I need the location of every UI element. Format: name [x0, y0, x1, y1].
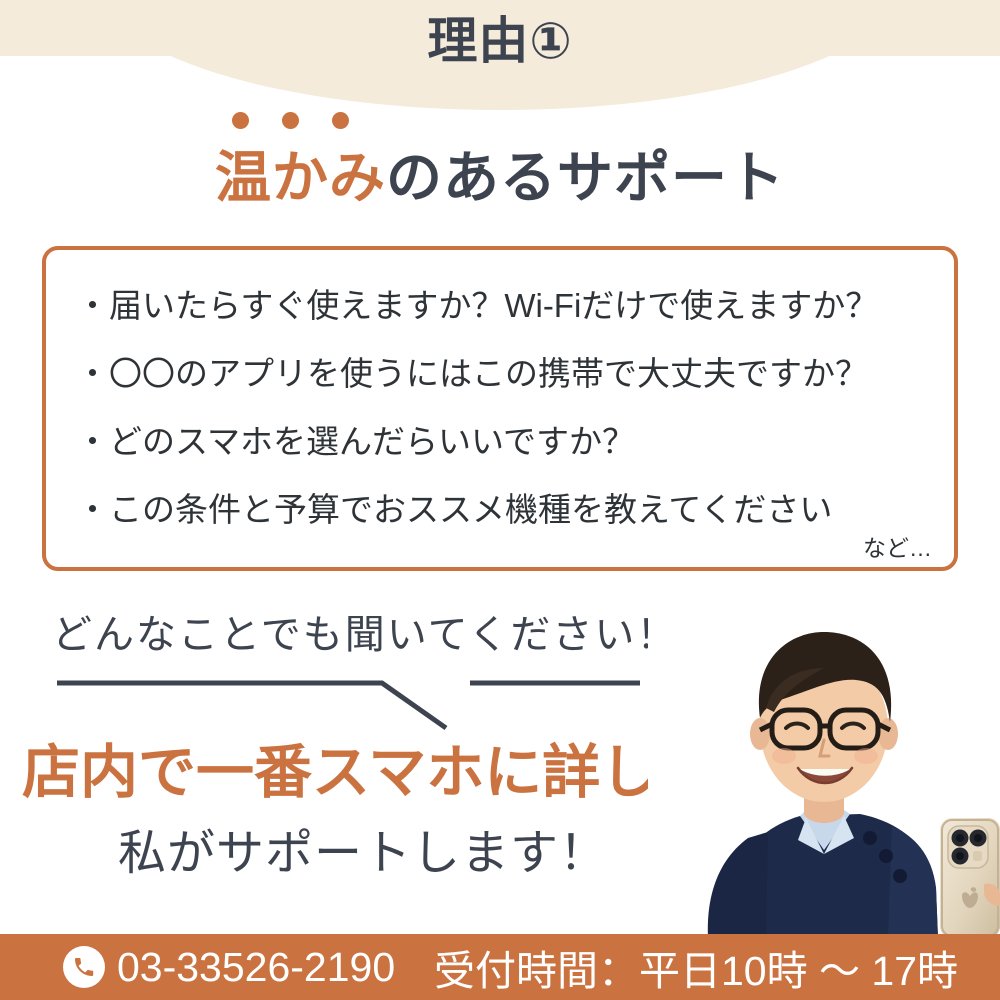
- divider-line: [40, 665, 680, 740]
- dot-icon: [232, 112, 249, 129]
- pitch-line: どんなことでも聞いてください！: [52, 602, 678, 660]
- page-title: 理由①: [0, 10, 1000, 72]
- dot-icon: [332, 112, 349, 129]
- phone-number[interactable]: 03-33526-2190: [117, 934, 395, 1000]
- claim-sub: 私がサポートします！: [118, 822, 608, 886]
- promo-page: 理由① 温かみのあるサポート ・届いたらすぐ使えますか？Wi-Fiだけで使えます…: [0, 0, 1000, 1000]
- claim-main: 店内で一番スマホに詳しい: [22, 738, 716, 808]
- section-heading: 温かみのあるサポート: [0, 143, 1000, 213]
- section-heading-accent: 温かみ: [215, 146, 386, 209]
- emphasis-dots: [218, 112, 378, 138]
- list-item: ・届いたらすぐ使えますか？Wi-Fiだけで使えますか？: [76, 272, 946, 340]
- section-heading-rest: のあるサポート: [386, 146, 785, 209]
- list-item: ・この条件と予算でおススメ機種を教えてください: [76, 476, 946, 544]
- staff-photo: [648, 588, 1000, 938]
- question-box: ・届いたらすぐ使えますか？Wi-Fiだけで使えますか？ ・〇〇のアプリを使うには…: [42, 246, 958, 571]
- phone-icon[interactable]: [63, 946, 105, 988]
- list-item: ・〇〇のアプリを使うにはこの携帯で大丈夫ですか？: [76, 340, 946, 408]
- question-list: ・届いたらすぐ使えますか？Wi-Fiだけで使えますか？ ・〇〇のアプリを使うには…: [76, 272, 946, 544]
- business-hours: 受付時間：平日10時 〜 17時: [434, 934, 958, 1000]
- dot-icon: [282, 112, 299, 129]
- question-list-suffix: など…: [863, 529, 932, 563]
- list-item: ・どのスマホを選んだらいいですか？: [76, 408, 946, 476]
